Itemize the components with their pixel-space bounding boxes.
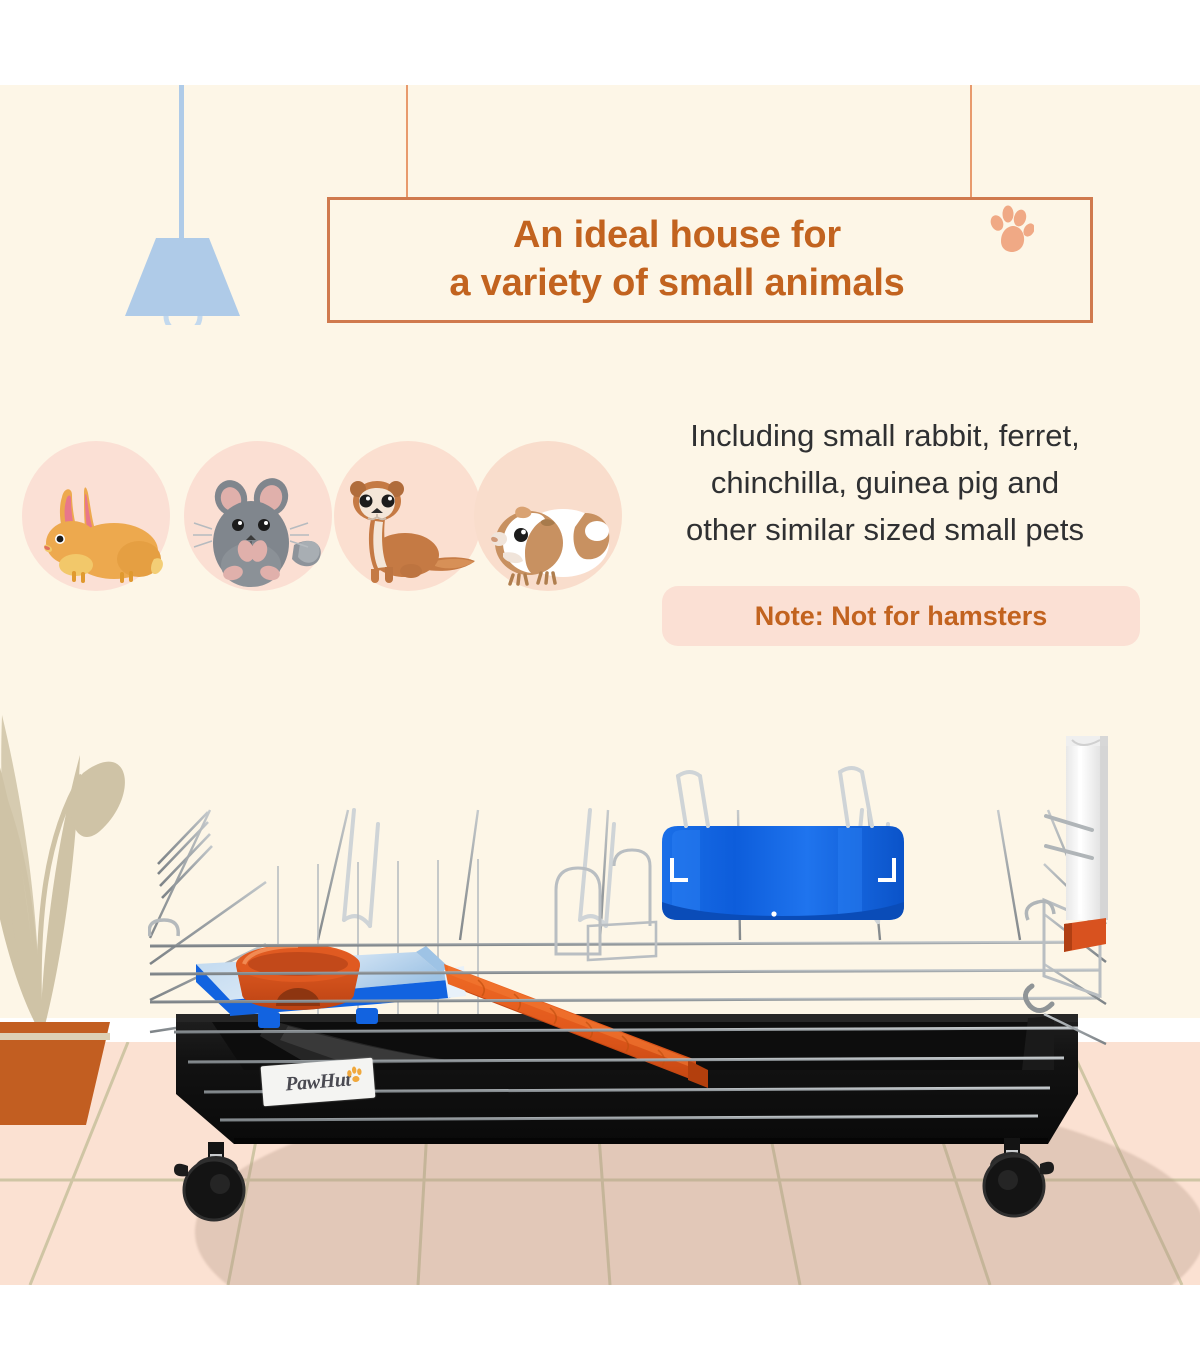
product-pet-cage xyxy=(148,714,1108,1234)
headline-line-2: a variety of small animals xyxy=(449,260,904,308)
description-line-1: Including small rabbit, ferret, xyxy=(600,412,1170,459)
accent-rule-left xyxy=(406,85,408,198)
status-badge: Note: Not for hamsters xyxy=(662,586,1140,646)
description-line-3: other similar sized small pets xyxy=(600,506,1170,553)
animal-chip-chinchilla xyxy=(184,441,332,591)
description-line-2: chinchilla, guinea pig and xyxy=(600,459,1170,506)
caster-wheel-left xyxy=(174,1142,244,1220)
guinea-pig-icon xyxy=(477,479,619,591)
logo-paw-icon xyxy=(345,1064,366,1084)
animal-chip-ferret xyxy=(334,441,482,591)
ferret-icon xyxy=(335,475,481,591)
rabbit-icon xyxy=(26,479,166,591)
bottom-margin xyxy=(0,1285,1200,1372)
page-title: An ideal house for a variety of small an… xyxy=(327,196,1027,324)
cage-illustration xyxy=(148,714,1108,1234)
hay-rack xyxy=(662,768,904,920)
description-text: Including small rabbit, ferret, chinchil… xyxy=(600,412,1170,553)
animal-chip-rabbit xyxy=(22,441,170,591)
scene-canvas: An ideal house for a variety of small an… xyxy=(0,0,1200,1372)
pendant-lamp xyxy=(78,85,288,325)
paw-print-icon xyxy=(988,203,1034,255)
chinchilla-icon xyxy=(188,473,328,591)
brand-name: PawHut xyxy=(284,1068,351,1096)
accent-rule-right xyxy=(970,85,972,198)
note-label: Note: Not for hamsters xyxy=(755,601,1048,632)
headline-line-1: An ideal house for xyxy=(513,212,841,260)
caster-wheel-right xyxy=(984,1138,1054,1216)
animal-icon-row xyxy=(22,441,622,601)
